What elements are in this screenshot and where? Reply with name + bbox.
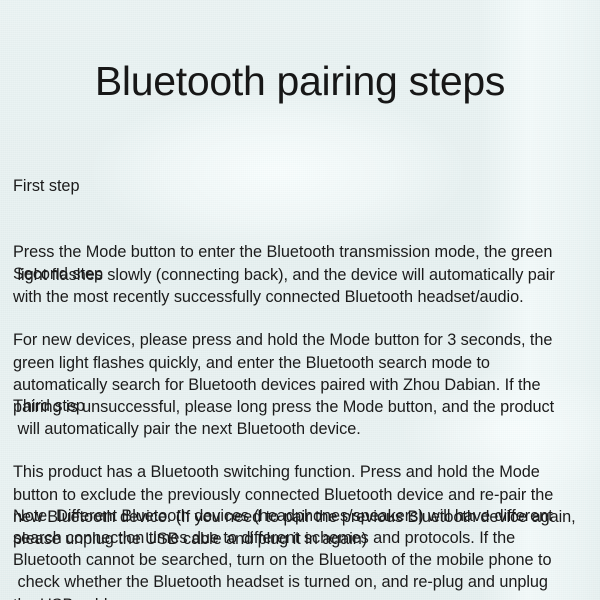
step-third-heading: Third step (13, 395, 591, 417)
step-second-heading: Second step (13, 263, 591, 285)
bluetooth-pairing-instructions-card: Bluetooth pairing steps First step Press… (0, 0, 600, 600)
page-title: Bluetooth pairing steps (0, 57, 600, 105)
step-first-heading: First step (13, 175, 591, 197)
note-text: Note: Different Bluetooth devices (headp… (13, 505, 591, 600)
instruction-content: Bluetooth pairing steps First step Press… (0, 0, 600, 600)
note-section: Note: Different Bluetooth devices (headp… (13, 461, 591, 600)
